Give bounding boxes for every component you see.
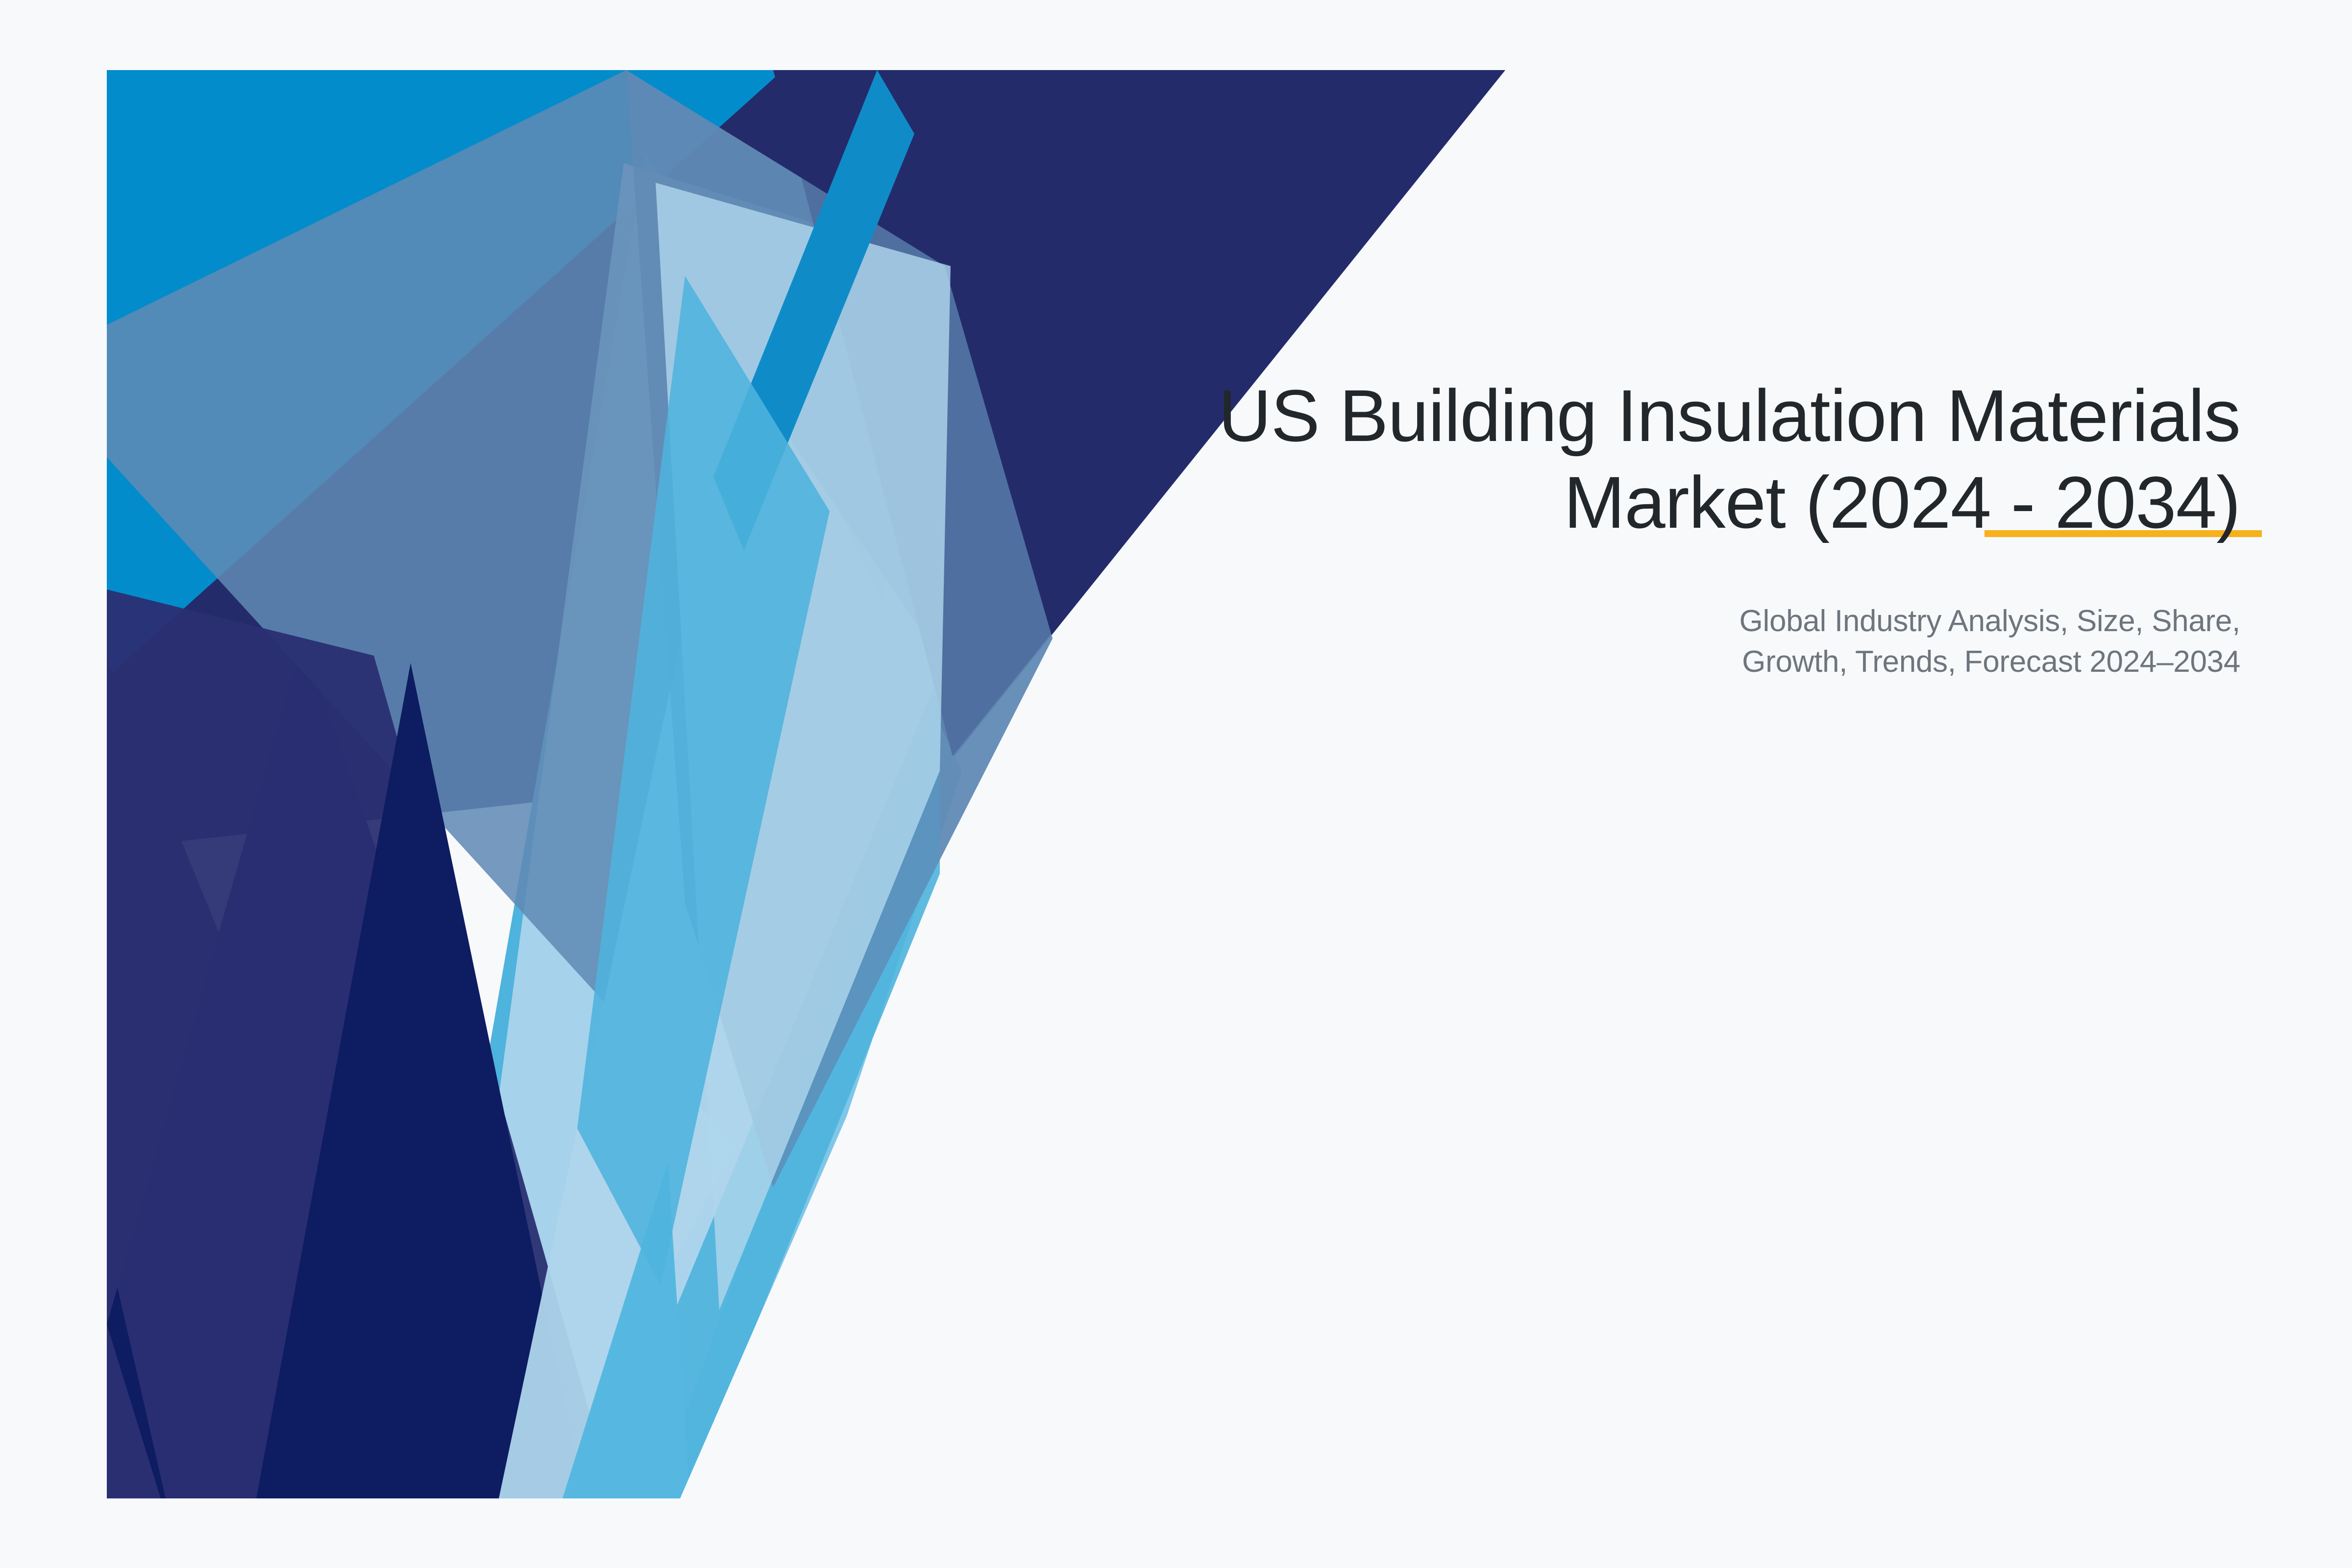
page-title-line-1: US Building Insulation Materials [1218,374,2240,457]
cover-page: US Building Insulation Materials Market … [0,0,2352,1568]
page-title: US Building Insulation Materials Market … [931,372,2240,546]
cover-artwork [107,70,1508,1498]
title-wrap: US Building Insulation Materials Market … [931,372,2240,546]
cover-text-block: US Building Insulation Materials Market … [931,372,2240,682]
page-title-line-2: Market (2024 - 2034) [1564,461,2240,543]
artwork-svg [107,70,1508,1498]
page-subtitle-line-2: Growth, Trends, Forecast 2024–2034 [1742,645,2240,679]
page-subtitle: Global Industry Analysis, Size, Share, G… [931,546,2240,682]
page-subtitle-line-1: Global Industry Analysis, Size, Share, [1739,604,2240,638]
